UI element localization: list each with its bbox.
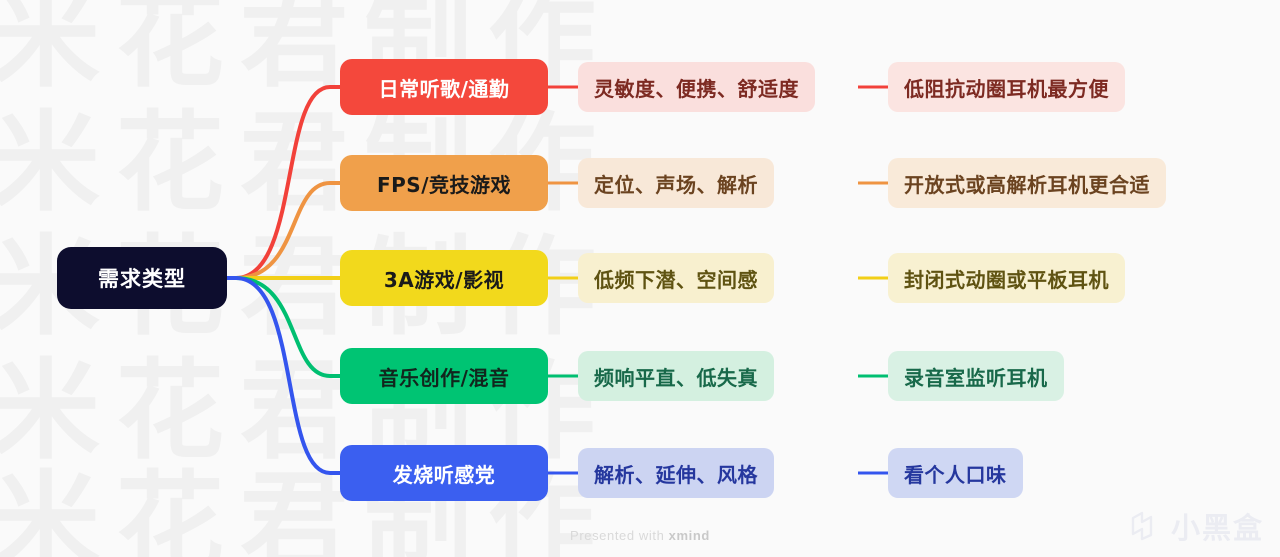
detail-node-label: 解析、延伸、风格 xyxy=(594,459,758,488)
xmind-brand-label: xmind xyxy=(669,528,710,543)
detail-node-aaa-games-movies-recommendation[interactable]: 封闭式动圈或平板耳机 xyxy=(888,253,1125,303)
root-node[interactable]: 需求类型 xyxy=(57,247,227,309)
branch-node-aaa-games-movies[interactable]: 3A游戏/影视 xyxy=(340,250,548,306)
detail-node-music-production-criteria[interactable]: 频响平直、低失真 xyxy=(578,351,774,401)
root-node-label: 需求类型 xyxy=(98,263,186,293)
detail-node-label: 录音室监听耳机 xyxy=(904,362,1048,391)
detail-node-label: 低频下潜、空间感 xyxy=(594,264,758,293)
detail-node-label: 频响平直、低失真 xyxy=(594,362,758,391)
detail-node-fps-gaming-recommendation[interactable]: 开放式或高解析耳机更合适 xyxy=(888,158,1166,208)
detail-node-label: 开放式或高解析耳机更合适 xyxy=(904,169,1150,198)
branch-node-audiophile[interactable]: 发烧听感党 xyxy=(340,445,548,501)
detail-node-audiophile-criteria[interactable]: 解析、延伸、风格 xyxy=(578,448,774,498)
branch-node-label: FPS/竞技游戏 xyxy=(377,169,511,198)
branch-node-label: 3A游戏/影视 xyxy=(384,264,504,293)
branch-node-label: 发烧听感党 xyxy=(393,459,496,488)
detail-node-label: 灵敏度、便携、舒适度 xyxy=(594,73,799,102)
branch-node-music-production[interactable]: 音乐创作/混音 xyxy=(340,348,548,404)
detail-node-label: 定位、声场、解析 xyxy=(594,169,758,198)
detail-node-audiophile-recommendation[interactable]: 看个人口味 xyxy=(888,448,1023,498)
branch-node-daily-listening[interactable]: 日常听歌/通勤 xyxy=(340,59,548,115)
branch-node-fps-gaming[interactable]: FPS/竞技游戏 xyxy=(340,155,548,211)
detail-node-fps-gaming-criteria[interactable]: 定位、声场、解析 xyxy=(578,158,774,208)
detail-node-daily-listening-criteria[interactable]: 灵敏度、便携、舒适度 xyxy=(578,62,815,112)
detail-node-label: 看个人口味 xyxy=(904,459,1007,488)
detail-node-daily-listening-recommendation[interactable]: 低阻抗动圈耳机最方便 xyxy=(888,62,1125,112)
brand-watermark-label: 小黑盒 xyxy=(1171,505,1264,547)
detail-node-label: 低阻抗动圈耳机最方便 xyxy=(904,73,1109,102)
detail-node-music-production-recommendation[interactable]: 录音室监听耳机 xyxy=(888,351,1064,401)
detail-node-label: 封闭式动圈或平板耳机 xyxy=(904,264,1109,293)
brand-watermark: 小黑盒 xyxy=(1129,505,1264,547)
xmind-footer: Presented with xmind xyxy=(0,528,1280,543)
mindmap-canvas: 需求类型 日常听歌/通勤 灵敏度、便携、舒适度 低阻抗动圈耳机最方便 FPS/竞… xyxy=(0,0,1280,557)
detail-node-aaa-games-movies-criteria[interactable]: 低频下潜、空间感 xyxy=(578,253,774,303)
branch-node-label: 音乐创作/混音 xyxy=(379,362,510,391)
xmind-footer-prefix: Presented with xyxy=(570,528,669,543)
xiaoheihe-logo-icon xyxy=(1129,509,1163,543)
branch-node-label: 日常听歌/通勤 xyxy=(379,73,510,102)
